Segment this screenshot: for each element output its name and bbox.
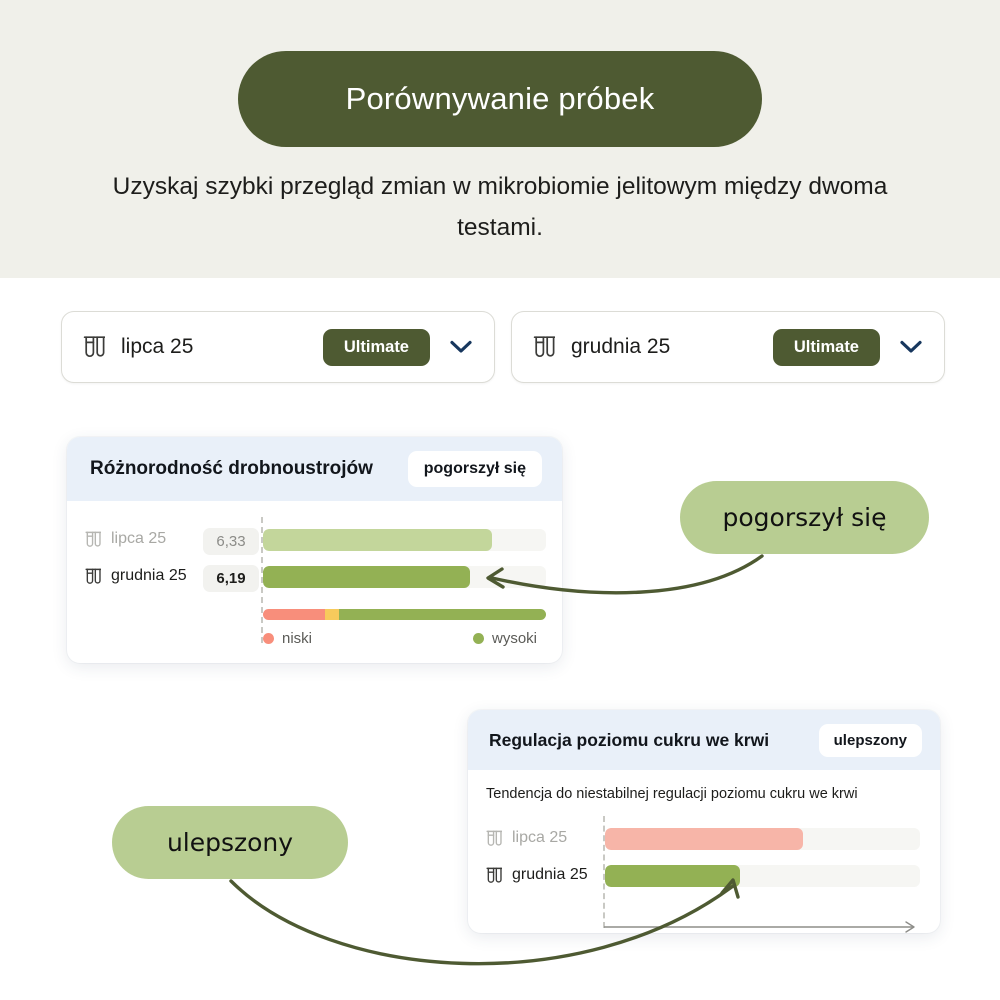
callout-worse: pogorszył się	[680, 481, 929, 554]
table-row: lipca 25	[486, 825, 567, 851]
hero-subtitle: Uzyskaj szybki przegląd zmian w mikrobio…	[110, 166, 890, 248]
axis-arrow-icon	[603, 920, 923, 933]
status-badge: pogorszył się	[408, 451, 542, 487]
test-tubes-icon	[486, 866, 504, 885]
page-title-pill: Porównywanie próbek	[238, 51, 762, 147]
scale-segment-mid	[325, 609, 339, 620]
page-title: Porównywanie próbek	[346, 81, 655, 117]
callout-better-label: ulepszony	[167, 828, 293, 857]
card-microbial-diversity[interactable]: Różnorodność drobnoustrojów pogorszył si…	[67, 437, 562, 663]
plan-badge-left: Ultimate	[323, 329, 430, 366]
callout-better: ulepszony	[112, 806, 348, 879]
scale-gradient-bar	[263, 609, 546, 620]
test-tubes-icon	[533, 334, 555, 360]
row-value: 6,33	[203, 528, 259, 555]
bar-fill-lipca	[605, 828, 803, 850]
row-label: lipca 25	[512, 829, 567, 847]
legend-dot-low-icon	[263, 633, 274, 644]
row-value: 6,19	[203, 565, 259, 592]
row-label: lipca 25	[111, 530, 166, 548]
plan-badge-right: Ultimate	[773, 329, 880, 366]
bar-fill-grudnia	[605, 865, 740, 887]
legend-low: niski	[263, 630, 312, 647]
test-tubes-icon	[486, 829, 504, 848]
status-badge: ulepszony	[819, 724, 922, 757]
legend-high: wysoki	[473, 630, 537, 647]
bar-track	[605, 828, 920, 850]
bar-fill-lipca	[263, 529, 492, 551]
bar-track	[263, 529, 546, 551]
test-tubes-icon	[85, 567, 103, 586]
sample-date-left: lipca 25	[121, 335, 193, 359]
card-header: Regulacja poziomu cukru we krwi ulepszon…	[468, 710, 940, 770]
sample-date-right: grudnia 25	[571, 335, 670, 359]
sample-selector-left[interactable]: lipca 25 Ultimate	[61, 311, 495, 383]
test-tubes-icon	[83, 334, 105, 360]
card-title: Regulacja poziomu cukru we krwi	[489, 730, 769, 751]
legend-high-label: wysoki	[492, 630, 537, 647]
bar-track	[263, 566, 546, 588]
legend-dot-high-icon	[473, 633, 484, 644]
scale-segment-low	[263, 609, 325, 620]
row-label: grudnia 25	[512, 866, 588, 884]
table-row: grudnia 25	[486, 862, 588, 888]
sample-selector-right[interactable]: grudnia 25 Ultimate	[511, 311, 945, 383]
chevron-down-icon[interactable]	[900, 340, 922, 354]
table-row: lipca 25	[85, 526, 166, 552]
bar-track	[605, 865, 920, 887]
legend-low-label: niski	[282, 630, 312, 647]
card-note: Tendencja do niestabilnej regulacji pozi…	[468, 770, 940, 802]
card-header: Różnorodność drobnoustrojów pogorszył si…	[67, 437, 562, 501]
chevron-down-icon[interactable]	[450, 340, 472, 354]
table-row: grudnia 25	[85, 563, 187, 589]
hero-band: Porównywanie próbek Uzyskaj szybki przeg…	[0, 0, 1000, 278]
test-tubes-icon	[85, 530, 103, 549]
row-label: grudnia 25	[111, 567, 187, 585]
card-body: Tendencja do niestabilnej regulacji pozi…	[468, 770, 940, 802]
scale-segment-high	[339, 609, 546, 620]
callout-worse-label: pogorszył się	[723, 503, 887, 532]
card-blood-sugar-regulation[interactable]: Regulacja poziomu cukru we krwi ulepszon…	[468, 710, 940, 933]
bar-fill-grudnia	[263, 566, 470, 588]
card-title: Różnorodność drobnoustrojów	[90, 458, 373, 480]
